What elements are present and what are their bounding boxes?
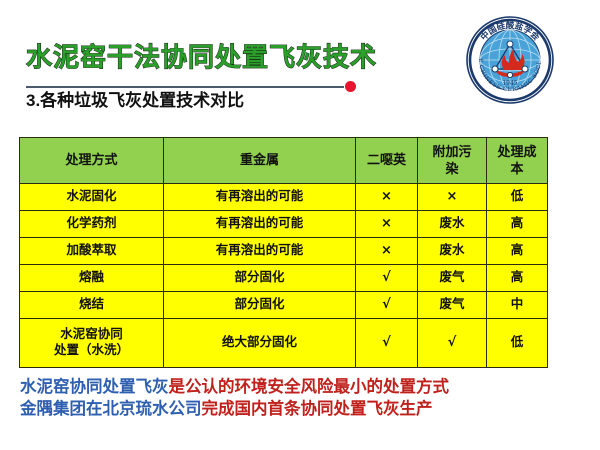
cell-cost: 中 — [487, 292, 548, 319]
cell-dioxin: √ — [356, 319, 418, 368]
cell-heavy-metal: 有再溶出的可能 — [164, 211, 356, 238]
cell-method: 烧结 — [20, 292, 164, 319]
logo-svg: 中国硅酸盐学会 THE CHINESE CERAMIC SOCIETY 1945 — [464, 14, 556, 106]
technology-comparison-table: 处理方式 重金属 二噁英 附加污 染 处理成 本 水泥固化 有再溶出的可能 × … — [19, 137, 548, 368]
cell-cost: 低 — [487, 319, 548, 368]
cell-extra-pollution: 废气 — [418, 292, 487, 319]
note-2-blue: 金隅集团在北京琉水公司 — [20, 399, 202, 418]
table-header: 处理方式 重金属 二噁英 附加污 染 处理成 本 — [20, 138, 548, 184]
chinese-ceramic-society-logo: 中国硅酸盐学会 THE CHINESE CERAMIC SOCIETY 1945 — [464, 14, 556, 106]
cell-heavy-metal: 部分固化 — [164, 265, 356, 292]
logo-year: 1945 — [502, 80, 517, 87]
cell-heavy-metal: 绝大部分固化 — [164, 319, 356, 368]
cell-dioxin: × — [356, 184, 418, 211]
column-header-cost: 处理成 本 — [487, 138, 548, 184]
cell-cost: 高 — [487, 265, 548, 292]
cell-cost: 低 — [487, 184, 548, 211]
table-row: 熔融 部分固化 √ 废气 高 — [20, 265, 548, 292]
title-divider — [26, 86, 344, 88]
table-body: 水泥固化 有再溶出的可能 × × 低 化学药剂 有再溶出的可能 × 废水 高 加… — [20, 184, 548, 368]
cell-heavy-metal: 部分固化 — [164, 292, 356, 319]
table-row: 水泥窑协同 处置（水洗） 绝大部分固化 √ √ 低 — [20, 319, 548, 368]
column-header-extra-pollution-line1: 附加污 — [432, 144, 471, 159]
footer-notes: 水泥窑协同处置飞灰是公认的环境安全风险最小的处置方式 金隅集团在北京琉水公司完成… — [20, 376, 582, 420]
cell-extra-pollution: √ — [418, 319, 487, 368]
column-header-heavy-metal: 重金属 — [164, 138, 356, 184]
section-subtitle: 3.各种垃圾飞灰处置技术对比 — [26, 90, 244, 112]
cell-method: 化学药剂 — [20, 211, 164, 238]
note-1-red: 是公认的环境安全风险最小的处置方式 — [169, 377, 450, 396]
cell-method-line1: 水泥窑协同 — [60, 327, 123, 341]
note-line-1: 水泥窑协同处置飞灰是公认的环境安全风险最小的处置方式 — [20, 376, 582, 398]
table-header-row: 处理方式 重金属 二噁英 附加污 染 处理成 本 — [20, 138, 548, 184]
cell-cost: 高 — [487, 211, 548, 238]
table-row: 化学药剂 有再溶出的可能 × 废水 高 — [20, 211, 548, 238]
column-header-method: 处理方式 — [20, 138, 164, 184]
note-line-2: 金隅集团在北京琉水公司完成国内首条协同处置飞灰生产 — [20, 398, 582, 420]
column-header-dioxin: 二噁英 — [356, 138, 418, 184]
cell-method: 水泥窑协同 处置（水洗） — [20, 319, 164, 368]
cell-dioxin: √ — [356, 265, 418, 292]
table-row: 加酸萃取 有再溶出的可能 × 废水 高 — [20, 238, 548, 265]
column-header-extra-pollution: 附加污 染 — [418, 138, 487, 184]
title-accent-dot-icon — [345, 81, 356, 92]
table-row: 烧结 部分固化 √ 废气 中 — [20, 292, 548, 319]
column-header-cost-line1: 处理成 — [497, 144, 536, 159]
note-2-red: 完成国内首条协同处置飞灰生产 — [202, 399, 433, 418]
cell-extra-pollution: 废水 — [418, 238, 487, 265]
cell-dioxin: × — [356, 211, 418, 238]
cell-cost: 高 — [487, 238, 548, 265]
cell-extra-pollution: 废水 — [418, 211, 487, 238]
cell-method: 熔融 — [20, 265, 164, 292]
column-header-extra-pollution-line2: 染 — [445, 161, 458, 176]
cell-extra-pollution: 废气 — [418, 265, 487, 292]
cell-dioxin: × — [356, 238, 418, 265]
cell-heavy-metal: 有再溶出的可能 — [164, 184, 356, 211]
cell-method: 水泥固化 — [20, 184, 164, 211]
cell-method-line2: 处置（水洗） — [54, 343, 129, 357]
cell-dioxin: √ — [356, 292, 418, 319]
note-1-blue: 水泥窑协同处置飞灰 — [20, 377, 169, 396]
cell-heavy-metal: 有再溶出的可能 — [164, 238, 356, 265]
column-header-cost-line2: 本 — [510, 161, 523, 176]
table-row: 水泥固化 有再溶出的可能 × × 低 — [20, 184, 548, 211]
cell-method: 加酸萃取 — [20, 238, 164, 265]
page-title: 水泥窑干法协同处置飞灰技术 — [26, 44, 377, 70]
cell-extra-pollution: × — [418, 184, 487, 211]
